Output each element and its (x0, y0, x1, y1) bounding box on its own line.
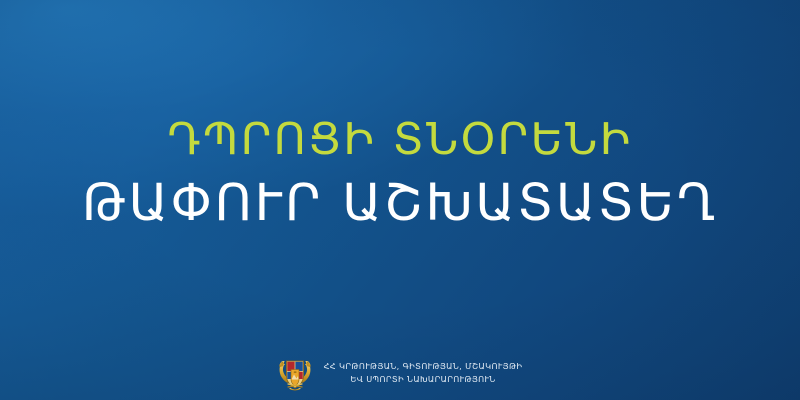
headline-line-1: ԴՊՐՈՑԻ ՏՆՕՐԵՆԻ (0, 118, 800, 162)
ministry-line-2: ԵՎ ՍՊՈՐՏԻ ՆԱԽԱՐԱՐՈՒԹՅՈՒՆ (324, 373, 523, 386)
headline-line-2: ԹԱՓՈՒՐ ԱՇԽԱՏԱՏԵՂ (0, 178, 800, 229)
footer: ՀՀ ԿՐԹՈՒԹՅԱՆ, ԳԻՏՈՒԹՅԱՆ, ՄՇԱԿՈՒՅԹԻ ԵՎ ՍՊ… (0, 354, 800, 392)
announcement-banner: ԴՊՐՈՑԻ ՏՆՕՐԵՆԻ ԹԱՓՈՒՐ ԱՇԽԱՏԱՏԵՂ (0, 0, 800, 400)
ministry-name: ՀՀ ԿՐԹՈՒԹՅԱՆ, ԳԻՏՈՒԹՅԱՆ, ՄՇԱԿՈՒՅԹԻ ԵՎ ՍՊ… (324, 360, 523, 385)
armenia-coat-of-arms-icon (278, 354, 312, 392)
ministry-line-1: ՀՀ ԿՐԹՈՒԹՅԱՆ, ԳԻՏՈՒԹՅԱՆ, ՄՇԱԿՈՒՅԹԻ (324, 360, 523, 373)
headline-block: ԴՊՐՈՑԻ ՏՆՕՐԵՆԻ ԹԱՓՈՒՐ ԱՇԽԱՏԱՏԵՂ (0, 118, 800, 229)
